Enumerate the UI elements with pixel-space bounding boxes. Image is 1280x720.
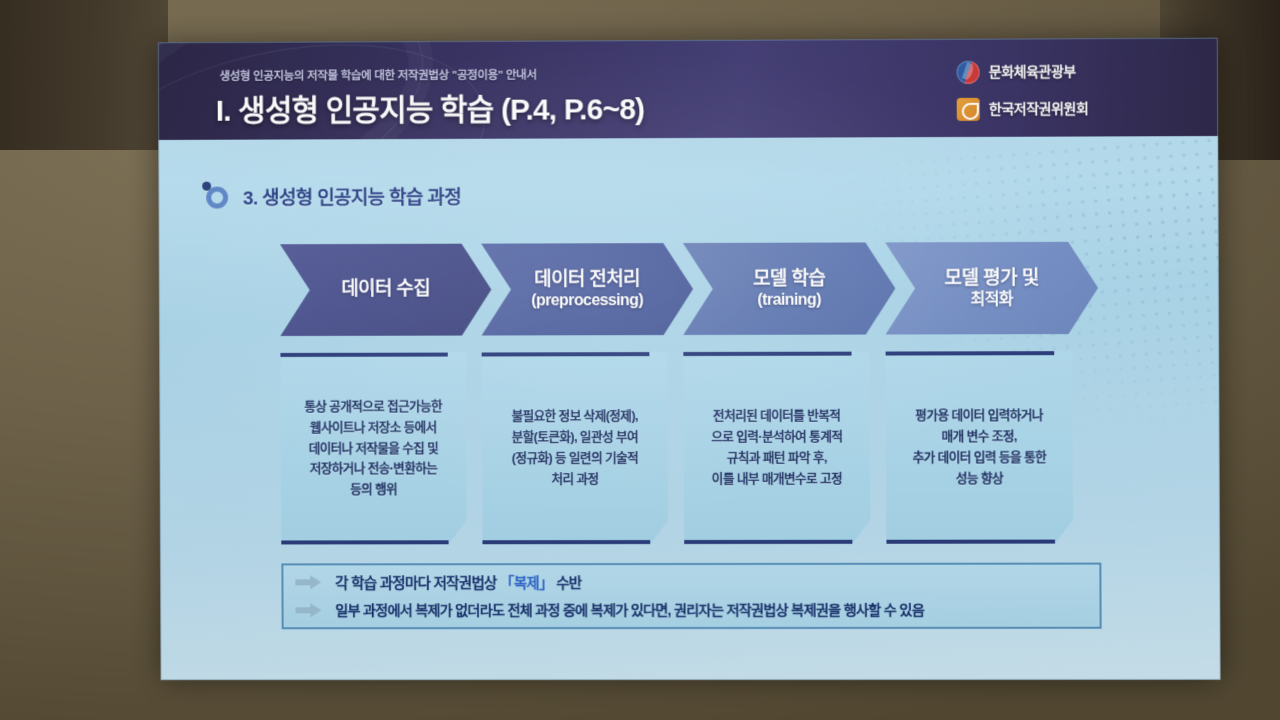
projected-slide: 생성형 인공지능의 저작물 학습에 대한 저작권법상 "공정이용" 안내서 I.… xyxy=(158,38,1221,680)
process-step-chevron-2: 데이터 전처리 (preprocessing) xyxy=(481,243,693,336)
summary-note-box: 각 학습 과정마다 저작권법상 「복제」 수반 일부 과정에서 복제가 없더라도… xyxy=(281,563,1101,630)
process-step-label-en-2: (preprocessing) xyxy=(531,291,643,311)
card-bottom-rule xyxy=(281,540,448,544)
card-top-rule xyxy=(280,353,447,357)
ring-bullet-icon xyxy=(202,182,232,212)
card-text-1: 통상 공개적으로 접근가능한웹사이트나 저장소 등에서데이터나 저작물을 수집 … xyxy=(296,397,450,501)
process-chevron-row: 데이터 수집 데이터 전처리 (preprocessing) 모델 학습 (tr… xyxy=(280,242,1100,336)
process-step-label-ko-1: 데이터 수집 xyxy=(341,278,430,301)
card-top-rule xyxy=(482,352,650,356)
card-text-4: 평가용 데이터 입력하거나매개 변수 조정,추가 데이터 입력 등을 통한성능 … xyxy=(904,406,1054,489)
kcc-emblem-icon xyxy=(957,97,980,120)
logo-kcc-label: 한국저작권위원회 xyxy=(989,98,1089,118)
note-1-highlight: 「복제」 xyxy=(500,576,553,592)
summary-note-text-2: 일부 과정에서 복제가 없더라도 전체 과정 중에 복제가 있다면, 권리자는 … xyxy=(335,600,924,620)
summary-note-text-1: 각 학습 과정마다 저작권법상 「복제」 수반 xyxy=(335,572,581,593)
card-text-2: 불필요한 정보 삭제(정제),분할(토큰화), 일관성 부여(정규화) 등 일련… xyxy=(504,407,647,490)
process-description-card-2: 불필요한 정보 삭제(정제),분할(토큰화), 일관성 부여(정규화) 등 일련… xyxy=(482,352,669,544)
logo-group: 문화체육관광부 한국저작권위원회 xyxy=(957,54,1188,126)
card-top-rule xyxy=(886,351,1055,355)
logo-mcst-label: 문화체육관광부 xyxy=(989,61,1076,81)
logo-mcst: 문화체육관광부 xyxy=(957,54,1188,89)
note-1-post: 수반 xyxy=(553,576,582,592)
section-heading-label: 3. 생성형 인공지능 학습 과정 xyxy=(243,182,461,210)
right-arrow-icon xyxy=(295,575,325,590)
process-step-label-en-3: (training) xyxy=(757,290,820,310)
process-step-label-ko-3: 모델 학습 xyxy=(753,267,825,290)
process-description-cards: 통상 공개적으로 접근가능한웹사이트나 저장소 등에서데이터나 저작물을 수집 … xyxy=(280,351,1101,544)
page-title: I. 생성형 인공지능 학습 (P.4, P.6~8) xyxy=(216,84,645,130)
process-description-card-1: 통상 공개적으로 접근가능한웹사이트나 저장소 등에서데이터나 저작물을 수집 … xyxy=(280,353,466,545)
summary-note-row-1: 각 학습 과정마다 저작권법상 「복제」 수반 xyxy=(295,568,1089,597)
process-step-label-en-4: 최적화 xyxy=(970,290,1013,310)
mcst-emblem-icon xyxy=(957,60,980,83)
logo-kcc: 한국저작권위원회 xyxy=(957,91,1188,126)
process-description-card-4: 평가용 데이터 입력하거나매개 변수 조정,추가 데이터 입력 등을 통한성능 … xyxy=(886,351,1074,544)
card-text-3: 전처리된 데이터를 반복적으로 입력·분석하여 통계적규칙과 패턴 파악 후,이… xyxy=(703,406,850,489)
card-bottom-rule xyxy=(482,540,650,544)
process-step-label-ko-2: 데이터 전처리 xyxy=(534,268,640,291)
process-step-chevron-4: 모델 평가 및 최적화 xyxy=(885,242,1098,335)
process-step-chevron-3: 모델 학습 (training) xyxy=(683,242,896,335)
slide-canvas: 생성형 인공지능의 저작물 학습에 대한 저작권법상 "공정이용" 안내서 I.… xyxy=(158,38,1221,680)
process-step-chevron-1: 데이터 수집 xyxy=(280,244,492,336)
card-bottom-rule xyxy=(684,540,852,544)
card-top-rule xyxy=(683,352,851,356)
right-arrow-icon xyxy=(295,603,325,618)
summary-note-row-2: 일부 과정에서 복제가 없더라도 전체 과정 중에 복제가 있다면, 권리자는 … xyxy=(295,596,1089,625)
header-subtitle: 생성형 인공지능의 저작물 학습에 대한 저작권법상 "공정이용" 안내서 xyxy=(220,67,537,84)
process-step-label-ko-4: 모델 평가 및 xyxy=(945,267,1039,290)
process-description-card-3: 전처리된 데이터를 반복적으로 입력·분석하여 통계적규칙과 패턴 파악 후,이… xyxy=(683,352,870,544)
card-bottom-rule xyxy=(886,540,1055,544)
note-1-pre: 각 학습 과정마다 저작권법상 xyxy=(335,576,500,592)
wall-shadow-left xyxy=(0,0,168,150)
slide-header: 생성형 인공지능의 저작물 학습에 대한 저작권법상 "공정이용" 안내서 I.… xyxy=(158,38,1218,140)
section-heading: 3. 생성형 인공지능 학습 과정 xyxy=(202,181,461,212)
